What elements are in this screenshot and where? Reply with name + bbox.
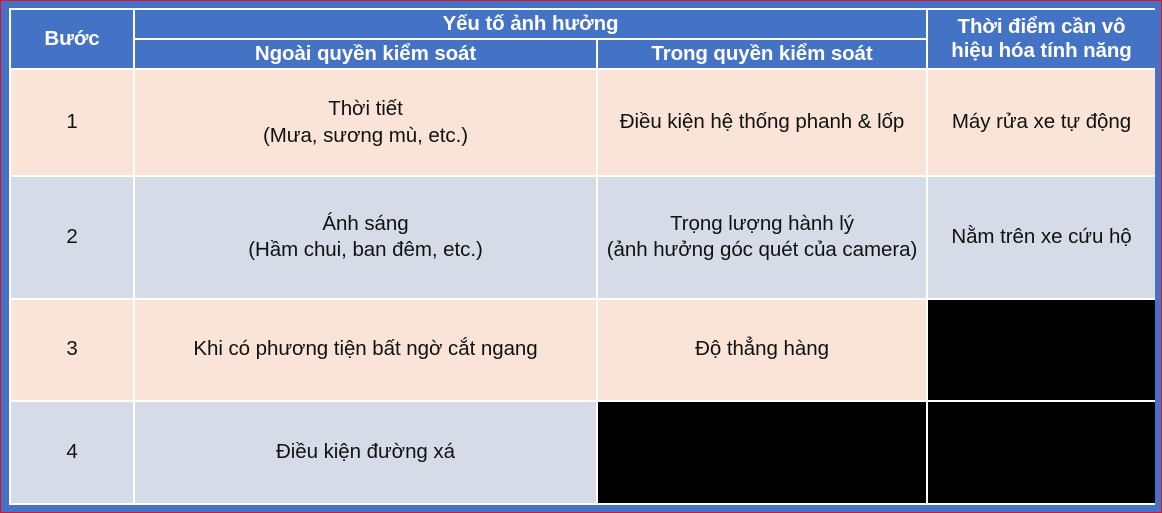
table-container: Bước Yếu tố ảnh hưởng Thời điểm cần vô h… [9,8,1155,505]
cell-step: 2 [10,176,134,299]
cell-in-control: Độ thẳng hàng [597,299,927,401]
cell-text: Khi có phương tiện bất ngờ cắt ngang [141,336,590,363]
column-header-step: Bước [10,9,134,69]
column-header-disable-moment: Thời điểm cần vô hiệu hóa tính năng [927,9,1155,69]
cell-text: Độ thẳng hàng [604,336,920,363]
influence-factors-table: Bước Yếu tố ảnh hưởng Thời điểm cần vô h… [9,8,1155,505]
cell-step: 3 [10,299,134,401]
cell-text: Ánh sáng(Hầm chui, ban đêm, etc.) [141,211,590,264]
table-body: 1Thời tiết(Mưa, sương mù, etc.)Điều kiện… [10,69,1155,504]
cell-step: 1 [10,69,134,175]
cell-out-of-control: Ánh sáng(Hầm chui, ban đêm, etc.) [134,176,597,299]
cell-disable-moment-blank [927,401,1155,504]
column-group-header-influence-factors: Yếu tố ảnh hưởng [134,9,927,39]
cell-disable-moment-blank [927,299,1155,401]
header-row-top: Bước Yếu tố ảnh hưởng Thời điểm cần vô h… [10,9,1155,39]
cell-text: 1 [17,109,127,136]
cell-disable-moment: Máy rửa xe tự động [927,69,1155,175]
cell-text: Máy rửa xe tự động [934,109,1149,136]
table-row: 2Ánh sáng(Hầm chui, ban đêm, etc.)Trọng … [10,176,1155,299]
cell-disable-moment: Nằm trên xe cứu hộ [927,176,1155,299]
cell-text: Nằm trên xe cứu hộ [934,224,1149,251]
cell-out-of-control: Khi có phương tiện bất ngờ cắt ngang [134,299,597,401]
cell-in-control-blank [597,401,927,504]
table-header: Bước Yếu tố ảnh hưởng Thời điểm cần vô h… [10,9,1155,69]
cell-text: Trọng lượng hành lý(ảnh hưởng góc quét c… [604,211,920,264]
cell-text: 2 [17,224,127,251]
table-row: 3Khi có phương tiện bất ngờ cắt ngangĐộ … [10,299,1155,401]
slide-frame: Bước Yếu tố ảnh hưởng Thời điểm cần vô h… [0,0,1162,513]
column-header-out-of-control: Ngoài quyền kiểm soát [134,39,597,69]
cell-text: 4 [17,439,127,466]
cell-out-of-control: Thời tiết(Mưa, sương mù, etc.) [134,69,597,175]
cell-text: Điều kiện đường xá [141,439,590,466]
cell-out-of-control: Điều kiện đường xá [134,401,597,504]
cell-step: 4 [10,401,134,504]
table-row: 4Điều kiện đường xá [10,401,1155,504]
cell-in-control: Điều kiện hệ thống phanh & lốp [597,69,927,175]
cell-in-control: Trọng lượng hành lý(ảnh hưởng góc quét c… [597,176,927,299]
table-row: 1Thời tiết(Mưa, sương mù, etc.)Điều kiện… [10,69,1155,175]
column-header-in-control: Trong quyền kiểm soát [597,39,927,69]
cell-text: Thời tiết(Mưa, sương mù, etc.) [141,96,590,149]
cell-text: Điều kiện hệ thống phanh & lốp [604,109,920,136]
cell-text: 3 [17,336,127,363]
